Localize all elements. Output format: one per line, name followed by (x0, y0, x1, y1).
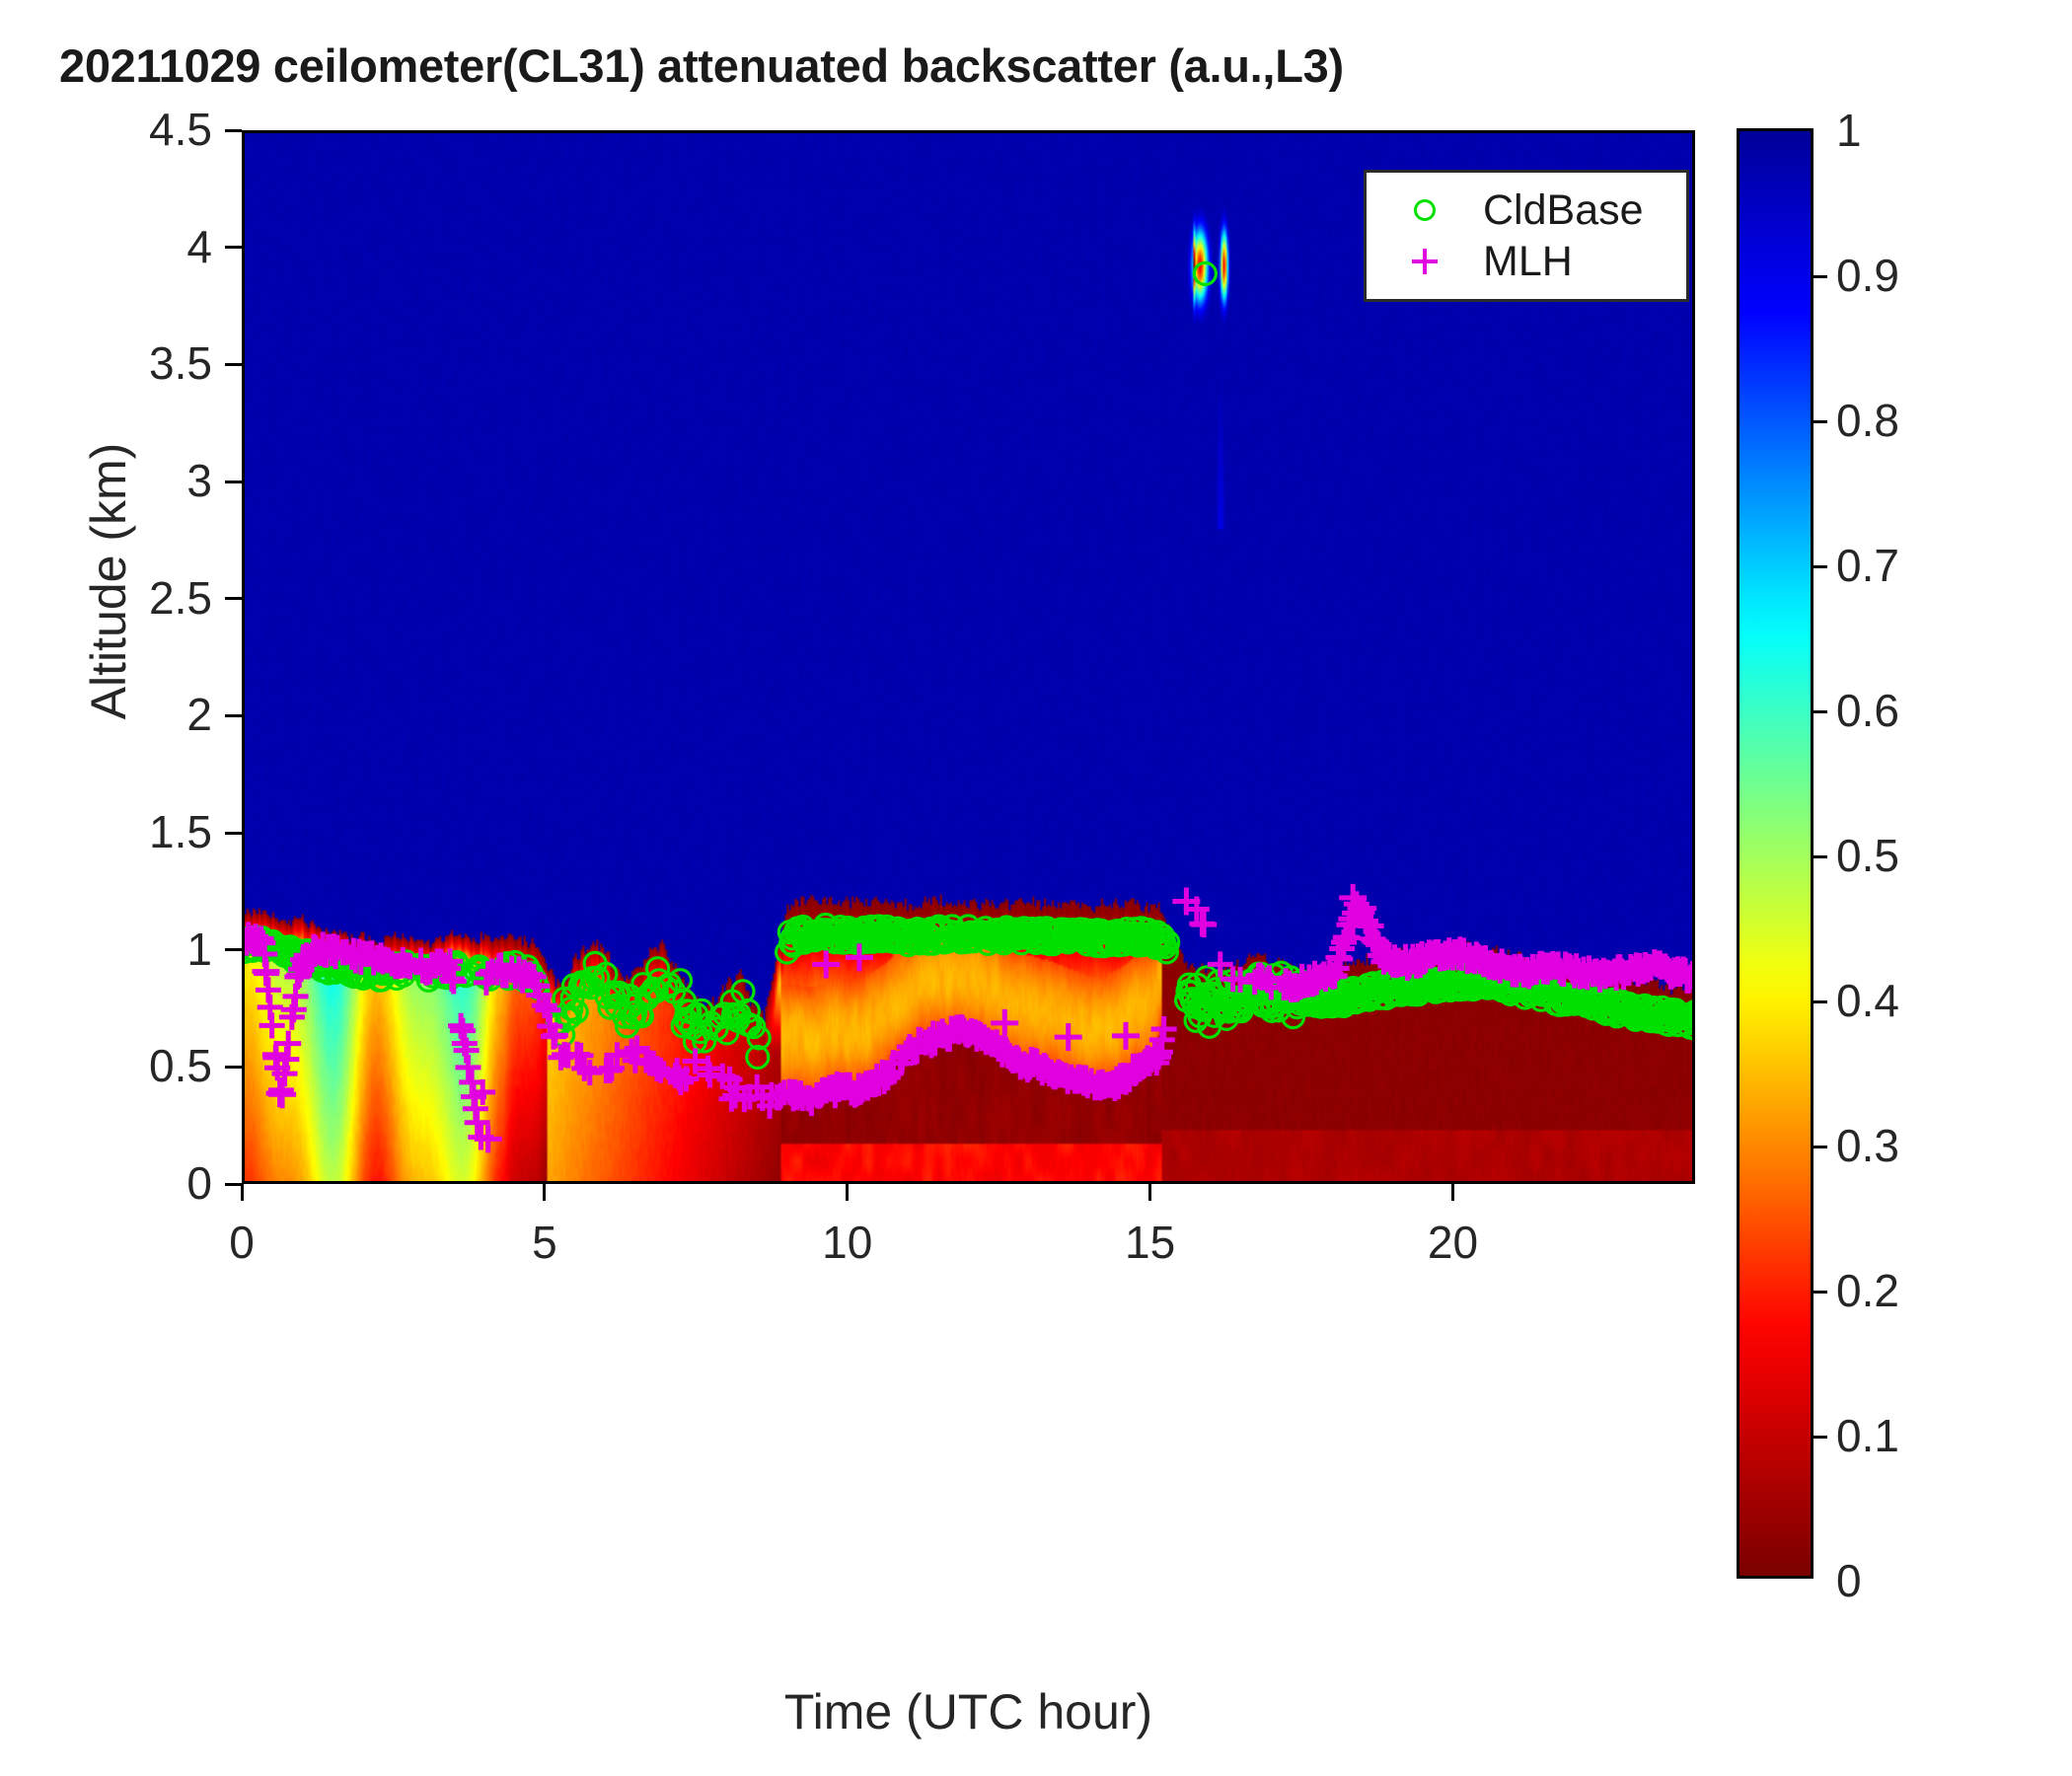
colorbar-tick-label: 0.5 (1836, 833, 1899, 878)
legend-item-mlh[interactable]: MLH (1367, 236, 1686, 287)
y-axis-tick-label: 4 (15, 224, 212, 269)
y-axis-tick-label: 0.5 (15, 1043, 212, 1088)
y-axis-tick (225, 714, 242, 717)
x-axis-tick-label: 5 (446, 1220, 643, 1265)
colorbar-tick-label: 0 (1836, 1558, 1862, 1603)
colorbar-tick (1811, 1000, 1827, 1003)
x-axis-label: Time (UTC hour) (242, 1683, 1695, 1740)
colorbar-tick (1811, 420, 1827, 423)
y-axis-tick-label: 0 (15, 1160, 212, 1206)
circle-marker-icon (1367, 199, 1483, 221)
colorbar-tick (1811, 855, 1827, 858)
y-axis-tick (225, 129, 242, 132)
x-axis-tick (543, 1184, 546, 1201)
colorbar-tick-label: 0.1 (1836, 1413, 1899, 1458)
colorbar-tick-label: 0.3 (1836, 1123, 1899, 1168)
colorbar-tick (1811, 1436, 1827, 1439)
legend-item-cldbase[interactable]: CldBase (1367, 185, 1686, 236)
y-axis-tick (225, 481, 242, 483)
y-axis-tick (225, 597, 242, 600)
colorbar-tick (1811, 565, 1827, 568)
cldbase-marker-cirrus (1194, 262, 1216, 284)
y-axis-tick (225, 832, 242, 835)
x-axis-tick-label: 10 (749, 1220, 946, 1265)
x-axis-tick-label: 15 (1052, 1220, 1249, 1265)
figure-canvas: 20211029 ceilometer(CL31) attenuated bac… (0, 0, 2072, 1776)
colorbar-tick (1811, 1291, 1827, 1294)
colorbar-tick-label: 0.9 (1836, 253, 1899, 298)
x-axis-tick (241, 1184, 244, 1201)
y-axis-tick (225, 1183, 242, 1186)
x-axis-tick-label: 20 (1355, 1220, 1552, 1265)
colorbar-tick-label: 0.8 (1836, 398, 1899, 443)
colorbar-gradient (1739, 131, 1811, 1576)
chart-title: 20211029 ceilometer(CL31) attenuated bac… (59, 36, 1441, 97)
y-axis-tick-label: 1 (15, 926, 212, 972)
x-axis-tick (1451, 1184, 1454, 1201)
colorbar-tick (1811, 275, 1827, 278)
y-axis-tick (225, 1066, 242, 1069)
y-axis-tick (225, 948, 242, 951)
y-axis-label: Altitude (km) (80, 325, 137, 838)
chart-legend[interactable]: CldBase MLH (1364, 170, 1689, 302)
colorbar[interactable]: 00.10.20.30.40.50.60.70.80.91 (1737, 128, 1813, 1579)
colorbar-tick-label: 0.7 (1836, 543, 1899, 588)
colorbar-tick-label: 0.4 (1836, 978, 1899, 1023)
plus-marker-icon (1367, 249, 1483, 274)
x-axis-tick (1148, 1184, 1151, 1201)
colorbar-tick (1811, 710, 1827, 713)
colorbar-tick-label: 0.2 (1836, 1268, 1899, 1313)
legend-label-cldbase: CldBase (1483, 189, 1644, 232)
x-axis-tick (846, 1184, 849, 1201)
legend-label-mlh: MLH (1483, 241, 1573, 283)
colorbar-tick-label: 1 (1836, 108, 1862, 153)
y-axis-tick (225, 363, 242, 366)
x-axis-tick-label: 0 (143, 1220, 340, 1265)
colorbar-tick-label: 0.6 (1836, 688, 1899, 733)
y-axis-tick-label: 4.5 (15, 107, 212, 152)
y-axis-tick (225, 246, 242, 249)
colorbar-tick (1811, 1146, 1827, 1148)
